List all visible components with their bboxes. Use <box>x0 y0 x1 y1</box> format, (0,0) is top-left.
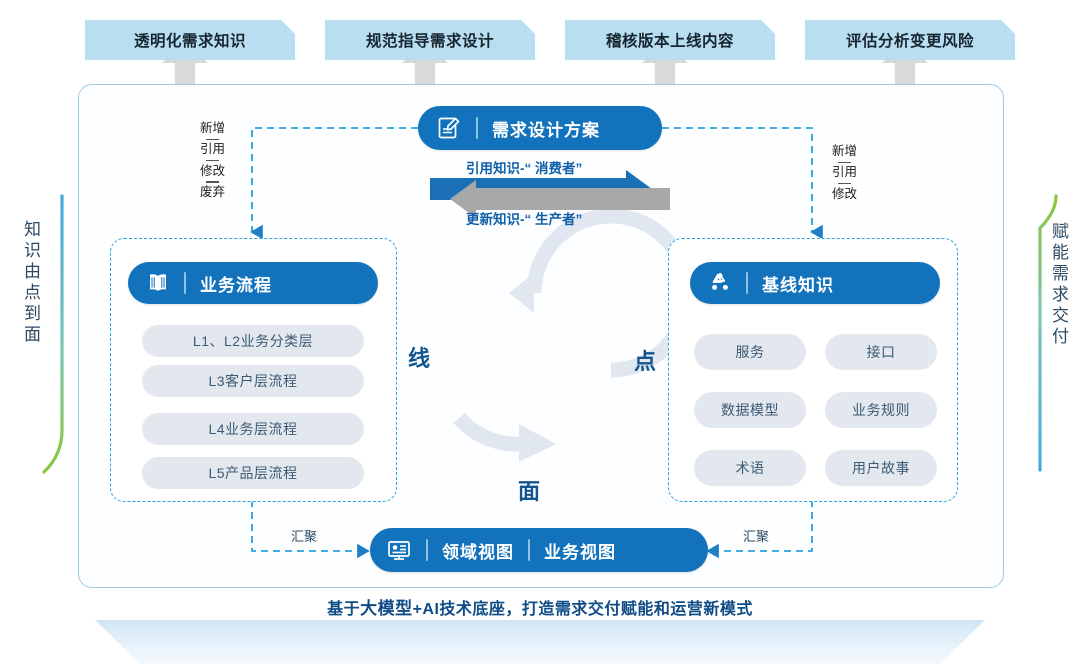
tagline-suffix: +AI技术底座，打造需求交付赋能和运营新模式 <box>413 601 753 618</box>
process-chip-0[interactable]: L1、L2业务分类层 <box>142 325 364 357</box>
knowledge-chip-label-2: 数据模型 <box>721 400 779 420</box>
center-header-label: 需求设计方案 <box>492 116 600 141</box>
cycle-arrow-icon <box>459 216 688 462</box>
process-chip-2[interactable]: L4业务层流程 <box>142 413 364 445</box>
pill-divider <box>184 272 186 294</box>
cycle-label-surface: 面 <box>518 474 541 506</box>
knowledge-chip-5[interactable]: 用户故事 <box>825 450 937 486</box>
tagline-emphasis: 大模型 <box>360 599 413 618</box>
list-dash <box>838 183 851 184</box>
list-dash <box>206 139 219 140</box>
center-header-pill[interactable]: 需求设计方案 <box>418 106 662 150</box>
left-relation-item-0: 新增 <box>200 122 225 135</box>
list-dash <box>206 181 219 182</box>
knowledge-chip-2[interactable]: 数据模型 <box>694 392 806 428</box>
process-chip-label-2: L4业务层流程 <box>208 419 297 439</box>
business-process-header[interactable]: 业务流程 <box>128 262 378 304</box>
recycle-share-icon <box>708 271 732 295</box>
left-relation-list: 新增 引用 修改 废弃 <box>200 122 225 199</box>
cycle-label-line: 线 <box>408 341 431 373</box>
left-relation-item-1: 引用 <box>200 143 225 156</box>
knowledge-chip-label-5: 用户故事 <box>852 458 910 478</box>
process-chip-3[interactable]: L5产品层流程 <box>142 457 364 489</box>
pill-divider <box>476 117 478 139</box>
knowledge-chip-1[interactable]: 接口 <box>825 334 937 370</box>
bottom-band <box>0 620 1080 664</box>
list-dash <box>838 162 851 163</box>
baseline-knowledge-title: 基线知识 <box>762 271 834 296</box>
forward-flow-label: 引用知识-“ 消费者” <box>466 157 582 177</box>
right-relation-item-0: 新增 <box>832 145 857 158</box>
knowledge-chip-0[interactable]: 服务 <box>694 334 806 370</box>
knowledge-chip-label-0: 服务 <box>736 342 765 362</box>
backward-flow-label: 更新知识-“ 生产者” <box>466 208 582 228</box>
pill-divider <box>746 272 748 294</box>
right-caption: 赋能需求交付 <box>1046 222 1071 348</box>
knowledge-chip-label-4: 术语 <box>736 458 765 478</box>
knowledge-chip-3[interactable]: 业务规则 <box>825 392 937 428</box>
knowledge-chip-4[interactable]: 术语 <box>694 450 806 486</box>
left-relation-item-2: 修改 <box>200 165 225 178</box>
cycle-label-point: 点 <box>634 344 657 376</box>
pill-divider <box>528 539 530 561</box>
document-pen-icon <box>436 115 462 141</box>
aggregate-label-right: 汇聚 <box>743 526 769 545</box>
process-chip-label-0: L1、L2业务分类层 <box>193 331 313 351</box>
process-chip-1[interactable]: L3客户层流程 <box>142 365 364 397</box>
baseline-knowledge-header[interactable]: 基线知识 <box>690 262 940 304</box>
aggregate-label-left: 汇聚 <box>291 526 317 545</box>
knowledge-chip-label-3: 业务规则 <box>852 400 910 420</box>
list-dash <box>206 160 219 161</box>
business-view-label: 业务视图 <box>544 538 616 563</box>
view-bar[interactable]: 领域视图 业务视图 <box>370 528 708 572</box>
diagram-canvas: 透明化需求知识 规范指导需求设计 稽核版本上线内容 评估分析变更风险 <box>0 0 1080 664</box>
book-pages-icon <box>146 271 170 295</box>
left-relation-item-3: 废弃 <box>200 186 225 199</box>
pill-divider <box>426 539 428 561</box>
tagline-wrap: 基于大模型+AI技术底座，打造需求交付赋能和运营新模式 <box>0 594 1080 619</box>
right-relation-list: 新增 引用 修改 <box>832 145 857 201</box>
right-relation-item-1: 引用 <box>832 166 857 179</box>
right-relation-item-2: 修改 <box>832 188 857 201</box>
tagline-prefix: 基于 <box>327 601 360 618</box>
domain-view-label: 领域视图 <box>442 538 514 563</box>
presentation-board-icon <box>386 537 412 563</box>
left-caption: 知识由点到面 <box>18 220 43 346</box>
business-process-title: 业务流程 <box>200 271 272 296</box>
process-chip-label-1: L3客户层流程 <box>208 371 297 391</box>
knowledge-chip-label-1: 接口 <box>867 342 896 362</box>
process-chip-label-3: L5产品层流程 <box>208 463 297 483</box>
